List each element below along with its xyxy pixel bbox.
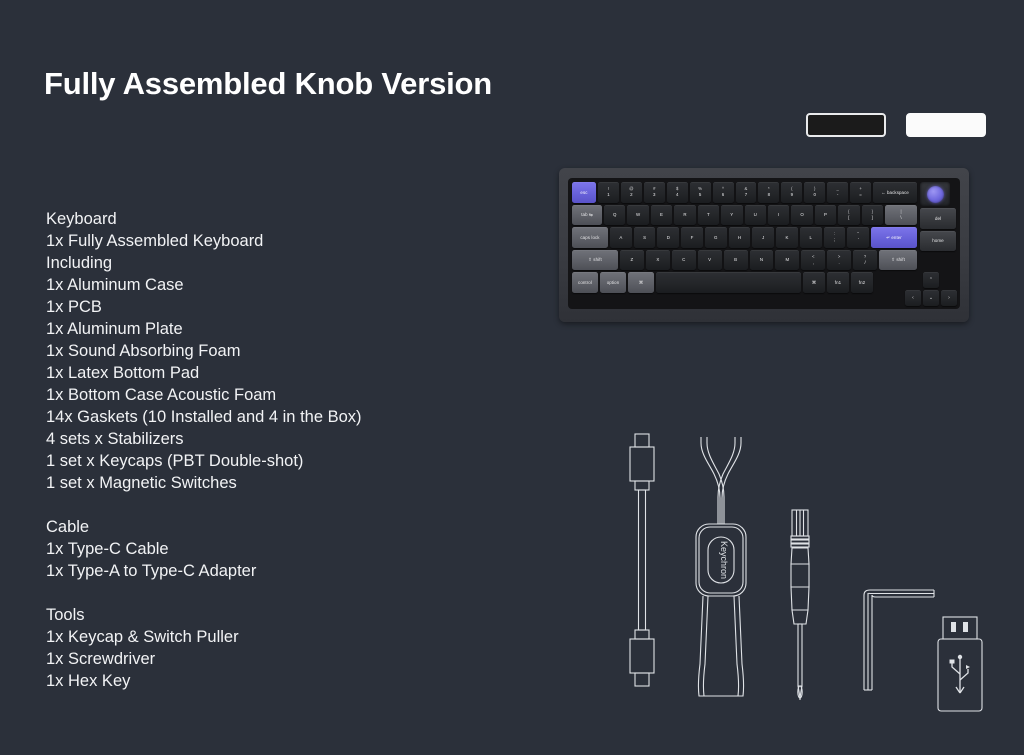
contents-line: 1x Type-C Cable [46, 538, 466, 560]
color-swatch-group [806, 113, 986, 137]
key-legend-stack: <, [812, 255, 815, 265]
key-legend-stack: R [683, 212, 686, 217]
keyboard-row-shift-row: ⇧ shiftZXCVBNM<,>.?/⇧ shift [572, 250, 917, 271]
key-legend: R [683, 212, 686, 217]
key-legend-stack: tab ⇆ [581, 212, 593, 217]
rotary-knob[interactable] [920, 182, 950, 206]
contents-line: 1x Type-A to Type-C Adapter [46, 560, 466, 582]
key-legend: control [578, 280, 592, 285]
key-blank[interactable] [656, 272, 801, 293]
key-legend-stack: )0 [813, 187, 816, 197]
key-shift[interactable]: ⇧ shift [879, 250, 917, 271]
key-legend: ⇧ shift [588, 257, 602, 262]
accessories-illustration-group: Keychron [596, 412, 996, 712]
key-legend-stack: Q [613, 212, 617, 217]
key-legend: B [734, 257, 737, 262]
key-legend-stack: D [667, 235, 670, 240]
hex-key-icon [864, 590, 934, 690]
key-legend: H [738, 235, 741, 240]
contents-spacer [46, 494, 466, 516]
key-backspace[interactable]: ← backspace [873, 182, 917, 203]
key-legend-stack: {[ [848, 210, 850, 220]
key-legend-stack: += [859, 187, 862, 197]
key-8[interactable]: *8 [758, 182, 779, 203]
contents-line: 1x Bottom Case Acoustic Foam [46, 384, 466, 406]
key-legend: F [691, 235, 694, 240]
key-blank[interactable]: _- [827, 182, 848, 203]
key-legend: N [760, 257, 763, 262]
key-legend-stack: ^6 [722, 187, 725, 197]
key-b[interactable]: B [724, 250, 748, 271]
key-arrow-down[interactable]: ⌄ [923, 290, 939, 306]
key-legend: ' [858, 237, 859, 242]
key-legend-stack: $4 [676, 187, 679, 197]
key-legend: Z [631, 257, 634, 262]
key-del[interactable]: del [920, 208, 956, 229]
contents-line: Including [46, 252, 466, 274]
key-legend: 3 [653, 192, 656, 197]
contents-line: 1x Fully Assembled Keyboard [46, 230, 466, 252]
key-blank[interactable]: ?/ [853, 250, 877, 271]
key-legend-stack: G [714, 235, 718, 240]
key-4[interactable]: $4 [667, 182, 688, 203]
key-legend: . [839, 260, 840, 265]
key-a[interactable]: A [610, 227, 632, 248]
product-contents-page: Fully Assembled Knob Version Keyboard1x … [0, 0, 1024, 755]
key-arrow-up[interactable]: ⌃ [923, 272, 939, 288]
key-legend-stack: L [809, 235, 812, 240]
keyboard-row-tab-row: tab ⇆QWERTYUIOP{[}]|\ [572, 205, 917, 226]
key-v[interactable]: V [698, 250, 722, 271]
key-legend-top: " [857, 232, 859, 237]
key-fn1[interactable]: fn1 [827, 272, 849, 293]
key-legend: 5 [699, 192, 702, 197]
key-legend-stack: Z [631, 257, 634, 262]
arrow-row-top: ⌃ [905, 272, 957, 288]
key-h[interactable]: H [729, 227, 751, 248]
key-legend-stack: "' [857, 232, 859, 242]
key-legend-stack: @2 [629, 187, 633, 197]
key-blank[interactable]: ⌘ [628, 272, 654, 293]
key-w[interactable]: W [627, 205, 648, 226]
key-legend: S [643, 235, 646, 240]
key-m[interactable]: M [775, 250, 799, 271]
key-legend: , [813, 260, 814, 265]
key-legend-top: % [698, 187, 702, 192]
key-y[interactable]: Y [721, 205, 742, 226]
key-legend: A [619, 235, 622, 240]
key-legend: L [809, 235, 812, 240]
key-blank[interactable]: "' [847, 227, 869, 248]
key-blank[interactable]: }] [862, 205, 883, 226]
key-legend-stack: control [578, 280, 592, 285]
key-legend-top: + [859, 187, 862, 192]
key-legend: V [708, 257, 711, 262]
key-legend-stack: I [778, 212, 779, 217]
key-legend: O [800, 212, 804, 217]
contents-spacer [46, 582, 466, 604]
key-legend: \ [900, 215, 901, 220]
contents-line: Keyboard [46, 208, 466, 230]
key-legend: 1 [607, 192, 610, 197]
key-9[interactable]: (9 [781, 182, 802, 203]
key-legend-top: > [838, 255, 841, 260]
key-legend-stack: E [660, 212, 663, 217]
key-legend: M [786, 257, 790, 262]
key-legend: ← backspace [881, 190, 909, 195]
key-legend: D [667, 235, 670, 240]
key-3[interactable]: #3 [644, 182, 665, 203]
key-legend-stack: fn1 [835, 280, 841, 285]
key-legend-top: < [812, 255, 815, 260]
key-legend: fn2 [859, 280, 865, 285]
contents-line: Tools [46, 604, 466, 626]
keyboard-row-number-row: esc!1@2#3$4%5^6&7*8(9)0_-+=← backspace [572, 182, 917, 203]
key-blank[interactable]: <, [801, 250, 825, 271]
key-legend-top: } [872, 210, 874, 215]
key-legend-top: * [768, 187, 771, 192]
key-legend-stack: A [619, 235, 622, 240]
key-legend-stack: H [738, 235, 741, 240]
key-j[interactable]: J [752, 227, 774, 248]
key-legend-top: ! [607, 187, 610, 192]
key-home[interactable]: home [920, 231, 956, 252]
key-legend-stack: N [760, 257, 763, 262]
key-legend-stack: ?/ [864, 255, 866, 265]
contents-line: 1x Aluminum Case [46, 274, 466, 296]
key-7[interactable]: &7 [736, 182, 757, 203]
keyboard-plate: esc!1@2#3$4%5^6&7*8(9)0_-+=← backspaceta… [568, 178, 960, 309]
key-legend-stack: &7 [745, 187, 748, 197]
key-legend-stack: Y [730, 212, 733, 217]
key-legend: W [636, 212, 640, 217]
key-legend-stack: J [762, 235, 764, 240]
key-legend-stack: U [754, 212, 757, 217]
key-n[interactable]: N [750, 250, 774, 271]
key-legend: Q [613, 212, 617, 217]
contents-line: 1x Hex Key [46, 670, 466, 692]
key-d[interactable]: D [657, 227, 679, 248]
key-legend-stack: T [707, 212, 710, 217]
key-legend-stack: X [656, 257, 659, 262]
key-legend-stack: ↵ enter [886, 235, 902, 240]
key-blank[interactable]: >. [827, 250, 851, 271]
key-i[interactable]: I [768, 205, 789, 226]
key-r[interactable]: R [674, 205, 695, 226]
key-legend-top: $ [676, 187, 679, 192]
key-legend-stack: M [786, 257, 790, 262]
key-f[interactable]: F [681, 227, 703, 248]
key-legend-stack: P [824, 212, 827, 217]
color-swatch-black[interactable] [806, 113, 886, 137]
key-legend: X [656, 257, 659, 262]
key-legend-stack: O [800, 212, 804, 217]
key-legend-stack: caps lock [580, 235, 599, 240]
keycap-switch-puller-icon: Keychron [696, 437, 746, 696]
key-s[interactable]: S [634, 227, 656, 248]
key-legend-top: ^ [722, 187, 725, 192]
key-legend-stack: esc [580, 190, 587, 195]
key-legend: ; [834, 237, 835, 242]
key-legend-stack: >. [838, 255, 841, 265]
screwdriver-icon [791, 510, 809, 700]
key-legend-top: ? [864, 255, 866, 260]
puller-brand-label: Keychron [719, 541, 729, 579]
key-legend-top: | [900, 210, 901, 215]
key-c[interactable]: C [672, 250, 696, 271]
keyboard-row-caps-row: caps lockASDFGHJKL:;"'↵ enter [572, 227, 917, 248]
key-o[interactable]: O [791, 205, 812, 226]
key-q[interactable]: Q [604, 205, 625, 226]
key-legend: caps lock [580, 235, 599, 240]
key-k[interactable]: K [776, 227, 798, 248]
key-legend-stack: *8 [768, 187, 771, 197]
key-legend-top: @ [629, 187, 633, 192]
key-legend: G [714, 235, 718, 240]
key-legend-stack: |\ [900, 210, 901, 220]
key-legend: 4 [676, 192, 679, 197]
key-g[interactable]: G [705, 227, 727, 248]
key-p[interactable]: P [815, 205, 836, 226]
key-legend: ⌘ [639, 280, 644, 285]
key-blank[interactable]: {[ [838, 205, 859, 226]
key-legend: ⌘ [812, 280, 817, 285]
key-legend: esc [580, 190, 587, 195]
contents-line: Cable [46, 516, 466, 538]
key-e[interactable]: E [651, 205, 672, 226]
key-option[interactable]: option [600, 272, 626, 293]
key-blank[interactable]: += [850, 182, 871, 203]
key-legend: 9 [791, 192, 794, 197]
keyboard-row-bottom-row: controloption⌘⌘fn1fn2 [572, 272, 917, 293]
key-arrow-left[interactable]: ‹ [905, 290, 921, 306]
keyboard-product-image: esc!1@2#3$4%5^6&7*8(9)0_-+=← backspaceta… [559, 168, 969, 322]
key-legend: Y [730, 212, 733, 217]
key-legend: 8 [768, 192, 771, 197]
key-legend-stack: _- [836, 187, 838, 197]
package-contents-list: Keyboard1x Fully Assembled KeyboardInclu… [46, 208, 466, 692]
key-legend: / [864, 260, 865, 265]
key-esc[interactable]: esc [572, 182, 596, 203]
key-legend-stack: S [643, 235, 646, 240]
contents-line: 1 set x Keycaps (PBT Double-shot) [46, 450, 466, 472]
contents-line: 1x Latex Bottom Pad [46, 362, 466, 384]
key-legend-top: # [653, 187, 656, 192]
key-shift[interactable]: ⇧ shift [572, 250, 618, 271]
key-legend: U [754, 212, 757, 217]
key-legend-stack: :; [834, 232, 835, 242]
key-control[interactable]: control [572, 272, 598, 293]
key-legend-stack: ⌘ [639, 280, 644, 285]
key-legend-top: : [834, 232, 835, 237]
key-l[interactable]: L [800, 227, 822, 248]
key-legend-stack: V [708, 257, 711, 262]
contents-line: 1x Keycap & Switch Puller [46, 626, 466, 648]
key-legend-top: ) [813, 187, 816, 192]
contents-line: 1x Sound Absorbing Foam [46, 340, 466, 362]
key-legend-stack: C [682, 257, 685, 262]
key-legend: - [837, 192, 839, 197]
key-legend-stack: ⌘ [812, 280, 817, 285]
key-legend-top: _ [836, 187, 838, 192]
key-legend-stack: !1 [607, 187, 610, 197]
key-legend: J [762, 235, 764, 240]
key-legend: ] [872, 215, 873, 220]
type-c-cable-icon [630, 434, 654, 686]
key-fn2[interactable]: fn2 [851, 272, 873, 293]
arrow-key-cluster: ⌃ ‹ ⌄ › [905, 272, 957, 306]
key-legend-stack: F [691, 235, 694, 240]
key-legend-stack: B [734, 257, 737, 262]
key-1[interactable]: !1 [598, 182, 619, 203]
key-legend-top: & [745, 187, 748, 192]
key-legend-stack: %5 [698, 187, 702, 197]
key-legend: ⇧ shift [891, 257, 905, 262]
key-5[interactable]: %5 [690, 182, 711, 203]
key-legend: ↵ enter [886, 235, 902, 240]
key-legend-stack: K [785, 235, 788, 240]
key-legend: I [778, 212, 779, 217]
key-blank[interactable]: ⌘ [803, 272, 825, 293]
key-legend-stack: ← backspace [881, 190, 909, 195]
key-legend-stack: W [636, 212, 640, 217]
contents-line: 1x Aluminum Plate [46, 318, 466, 340]
keyboard-main-cluster: esc!1@2#3$4%5^6&7*8(9)0_-+=← backspaceta… [572, 182, 917, 305]
key-legend-top: ( [791, 187, 794, 192]
key-legend-top: { [848, 210, 850, 215]
key-legend: E [660, 212, 663, 217]
key-6[interactable]: ^6 [713, 182, 734, 203]
key-legend: 0 [813, 192, 816, 197]
key-legend: T [707, 212, 710, 217]
contents-line: 1x Screwdriver [46, 648, 466, 670]
contents-line: 14x Gaskets (10 Installed and 4 in the B… [46, 406, 466, 428]
contents-line: 4 sets x Stabilizers [46, 428, 466, 450]
page-title: Fully Assembled Knob Version [44, 66, 492, 102]
key-legend: tab ⇆ [581, 212, 593, 217]
key-legend-stack: ⇧ shift [891, 257, 905, 262]
arrow-row-bottom: ‹ ⌄ › [905, 290, 957, 306]
key-2[interactable]: @2 [621, 182, 642, 203]
key-legend: [ [848, 215, 849, 220]
key-legend-stack: }] [872, 210, 874, 220]
key-legend: K [785, 235, 788, 240]
key-legend: 7 [745, 192, 748, 197]
key-legend-stack: ⇧ shift [588, 257, 602, 262]
key-legend: P [824, 212, 827, 217]
color-swatch-white[interactable] [906, 113, 986, 137]
key-legend-stack: #3 [653, 187, 656, 197]
key-t[interactable]: T [698, 205, 719, 226]
usb-type-a-adapter-icon [938, 617, 982, 711]
key-legend: 2 [630, 192, 633, 197]
key-arrow-right[interactable]: › [941, 290, 957, 306]
key-blank[interactable]: |\ [885, 205, 917, 226]
key-legend: = [859, 192, 862, 197]
key-tab[interactable]: tab ⇆ [572, 205, 602, 226]
key-legend-stack: option [607, 280, 620, 285]
key-legend-stack: fn2 [859, 280, 865, 285]
knob-dial [927, 186, 944, 203]
contents-line: 1x PCB [46, 296, 466, 318]
key-blank[interactable]: :; [824, 227, 846, 248]
key-legend: C [682, 257, 685, 262]
key-legend: option [607, 280, 620, 285]
key-0[interactable]: )0 [804, 182, 825, 203]
key-x[interactable]: X [646, 250, 670, 271]
key-u[interactable]: U [745, 205, 766, 226]
key-legend: fn1 [835, 280, 841, 285]
key-caps-lock[interactable]: caps lock [572, 227, 608, 248]
key-legend-stack: (9 [791, 187, 794, 197]
contents-line: 1 set x Magnetic Switches [46, 472, 466, 494]
key-enter[interactable]: ↵ enter [871, 227, 917, 248]
key-legend: 6 [722, 192, 725, 197]
key-z[interactable]: Z [620, 250, 644, 271]
